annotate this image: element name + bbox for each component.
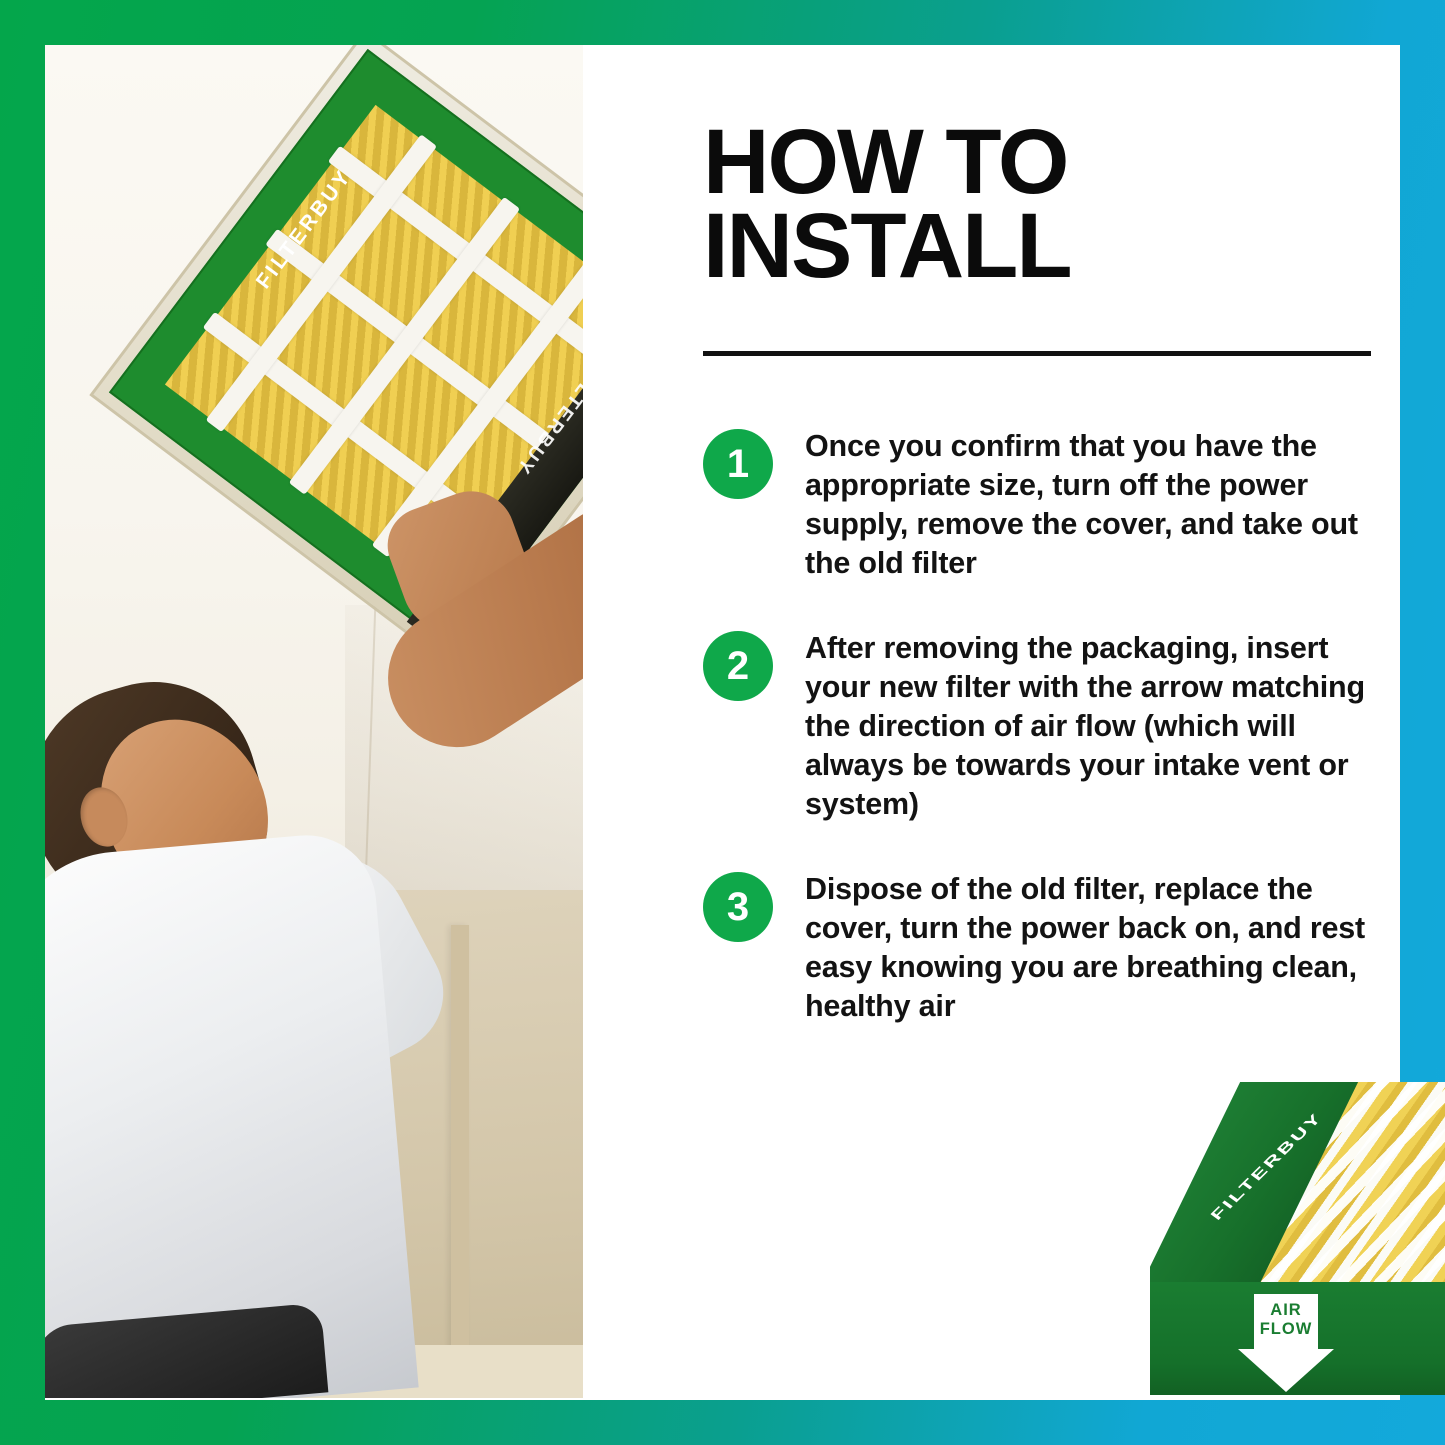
step-item: 2 After removing the packaging, insert y… <box>703 629 1393 824</box>
air-flow-line-2: FLOW <box>1260 1320 1313 1338</box>
air-flow-line-1: AIR <box>1270 1301 1301 1319</box>
step-description: Once you confirm that you have the appro… <box>805 427 1393 583</box>
arrow-head <box>1238 1349 1334 1392</box>
step-item: 3 Dispose of the old filter, replace the… <box>703 870 1393 1026</box>
gradient-border-frame: FILTERBUY FILTERBUY HOW TO INSTALL <box>0 0 1445 1445</box>
door-frame-trim <box>451 925 469 1398</box>
page-title: HOW TO INSTALL <box>703 120 1343 288</box>
product-filter-photo: FILTERBUY AIR FLOW <box>1150 1082 1445 1395</box>
step-number-badge: 2 <box>703 631 773 701</box>
title-divider <box>703 351 1371 356</box>
step-description: After removing the packaging, insert you… <box>805 629 1393 824</box>
installation-photo: FILTERBUY FILTERBUY <box>45 45 583 1398</box>
air-flow-label: AIR FLOW <box>1238 1301 1334 1339</box>
air-flow-arrow-icon: AIR FLOW <box>1238 1294 1334 1392</box>
steps-list: 1 Once you confirm that you have the app… <box>703 427 1393 1072</box>
white-canvas: FILTERBUY FILTERBUY HOW TO INSTALL <box>45 45 1400 1400</box>
title-line-2: INSTALL <box>703 195 1071 297</box>
step-item: 1 Once you confirm that you have the app… <box>703 427 1393 583</box>
step-description: Dispose of the old filter, replace the c… <box>805 870 1393 1026</box>
step-number-badge: 3 <box>703 872 773 942</box>
step-number-badge: 1 <box>703 429 773 499</box>
